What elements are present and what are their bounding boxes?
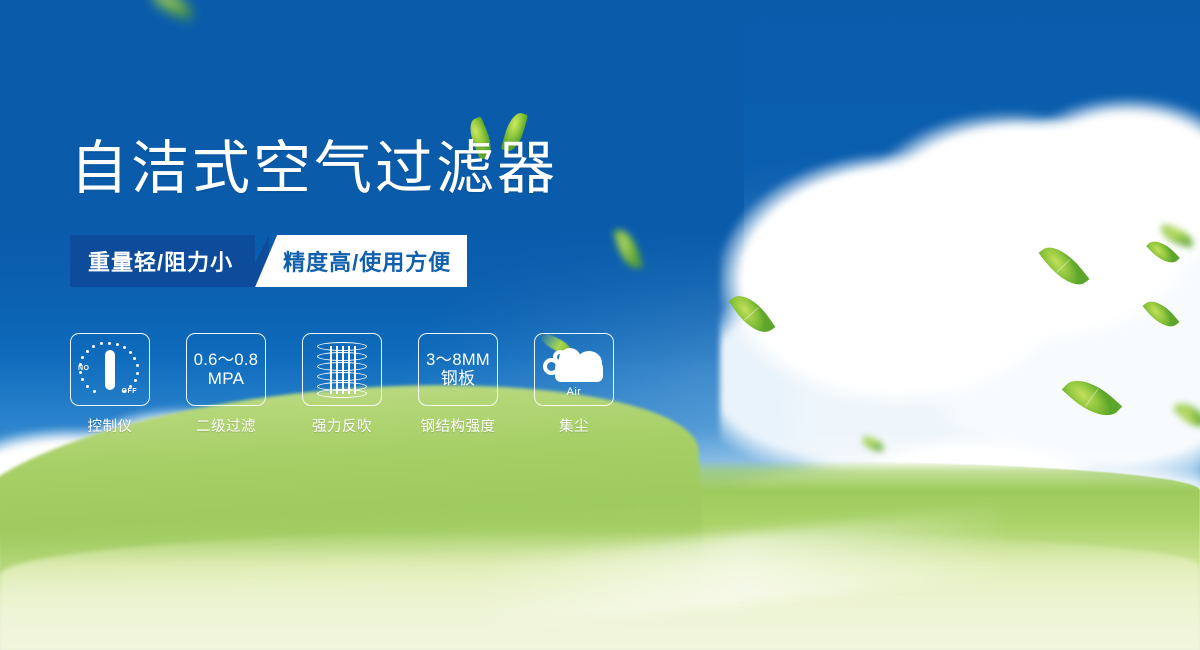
feature-label: 控制仪 (88, 415, 133, 436)
pressure-unit: MPA (194, 369, 258, 388)
air-cloud-icon: Air (543, 344, 605, 396)
dial-knob-icon: NO OFF (78, 341, 142, 399)
feature-item-filtration[interactable]: 0.6～0.8 MPA 二级过滤 (186, 333, 266, 436)
feature-label: 二级过滤 (196, 415, 256, 436)
feature-icon-box: Air (534, 333, 614, 406)
feature-label: 钢结构强度 (421, 415, 496, 436)
page-title: 自洁式空气过滤器 (70, 140, 558, 198)
feature-list: NO OFF 控制仪 0.6～0.8 MPA 二级过滤 (70, 333, 614, 436)
dial-label-no: NO (78, 365, 90, 372)
dial-pointer (105, 350, 115, 390)
feature-label: 强力反吹 (312, 415, 372, 436)
feature-label: 集尘 (559, 415, 589, 436)
subtitle-segment-left: 重量轻/阻力小 (70, 235, 255, 287)
subtitle-bar: 重量轻/阻力小 精度高/使用方便 (70, 235, 464, 287)
feature-item-steel[interactable]: 3～8MM 钢板 钢结构强度 (418, 333, 498, 436)
feature-item-dust[interactable]: Air 集尘 (534, 333, 614, 436)
pressure-text-icon: 0.6～0.8 MPA (194, 351, 258, 389)
feature-icon-box: 0.6～0.8 MPA (186, 333, 266, 406)
product-banner: 自洁式空气过滤器 重量轻/阻力小 精度高/使用方便 (0, 0, 1200, 650)
filter-cartridge-icon (317, 342, 367, 398)
feature-icon-box (302, 333, 382, 406)
dial-label-off: OFF (122, 388, 138, 395)
feature-icon-box: 3～8MM 钢板 (418, 333, 498, 406)
steel-thickness: 3～8MM (426, 351, 490, 369)
pressure-value: 0.6～0.8 (194, 351, 258, 369)
feature-item-blowback[interactable]: 强力反吹 (302, 333, 382, 436)
subtitle-segment-right: 精度高/使用方便 (255, 235, 467, 287)
feature-icon-box: NO OFF (70, 333, 150, 406)
steel-material: 钢板 (426, 369, 490, 388)
steel-plate-text-icon: 3～8MM 钢板 (426, 351, 490, 389)
feature-item-control[interactable]: NO OFF 控制仪 (70, 333, 150, 436)
air-label: Air (543, 386, 605, 398)
